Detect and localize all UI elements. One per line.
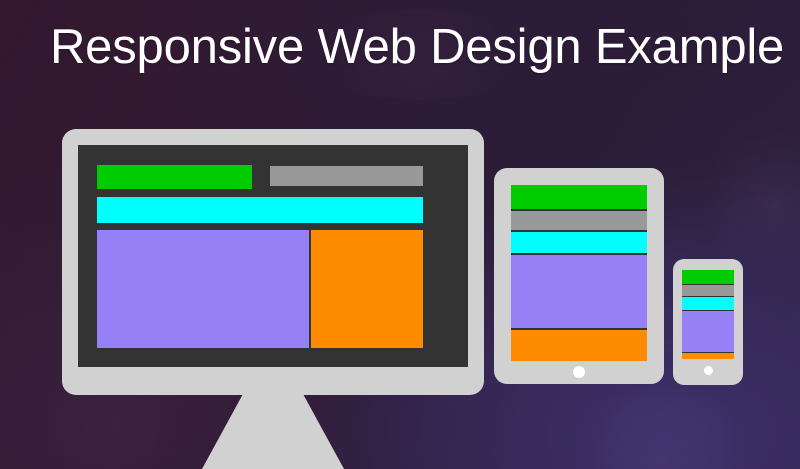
phone-content-block bbox=[682, 311, 734, 352]
desktop-content-block bbox=[97, 230, 309, 348]
phone-banner-block bbox=[682, 297, 734, 310]
background-glow-2 bbox=[700, 130, 800, 280]
desktop-sidebar-block bbox=[311, 230, 423, 348]
tablet-screen bbox=[511, 185, 647, 361]
page-title: Responsive Web Design Example bbox=[50, 22, 784, 73]
phone-screen bbox=[682, 270, 734, 359]
desktop-screen bbox=[78, 145, 468, 367]
phone-home-button[interactable] bbox=[704, 366, 713, 375]
phone-nav-block bbox=[682, 270, 734, 284]
tablet-device bbox=[494, 168, 664, 384]
phone-device bbox=[673, 259, 743, 385]
tablet-banner-block bbox=[511, 232, 647, 253]
background-glow-1 bbox=[556, 388, 766, 469]
desktop-monitor-stand bbox=[202, 391, 344, 469]
responsive-design-illustration: Responsive Web Design Example bbox=[0, 0, 800, 469]
desktop-nav-block bbox=[97, 165, 252, 189]
desktop-banner-block bbox=[97, 197, 423, 223]
tablet-nav-block bbox=[511, 185, 647, 209]
tablet-content-block bbox=[511, 255, 647, 328]
desktop-logo-block bbox=[270, 166, 423, 186]
tablet-logo-block bbox=[511, 211, 647, 230]
desktop-monitor bbox=[62, 129, 484, 469]
tablet-sidebar-block bbox=[511, 330, 647, 361]
phone-logo-block bbox=[682, 285, 734, 296]
tablet-home-button[interactable] bbox=[573, 366, 585, 378]
phone-sidebar-block bbox=[682, 353, 734, 359]
